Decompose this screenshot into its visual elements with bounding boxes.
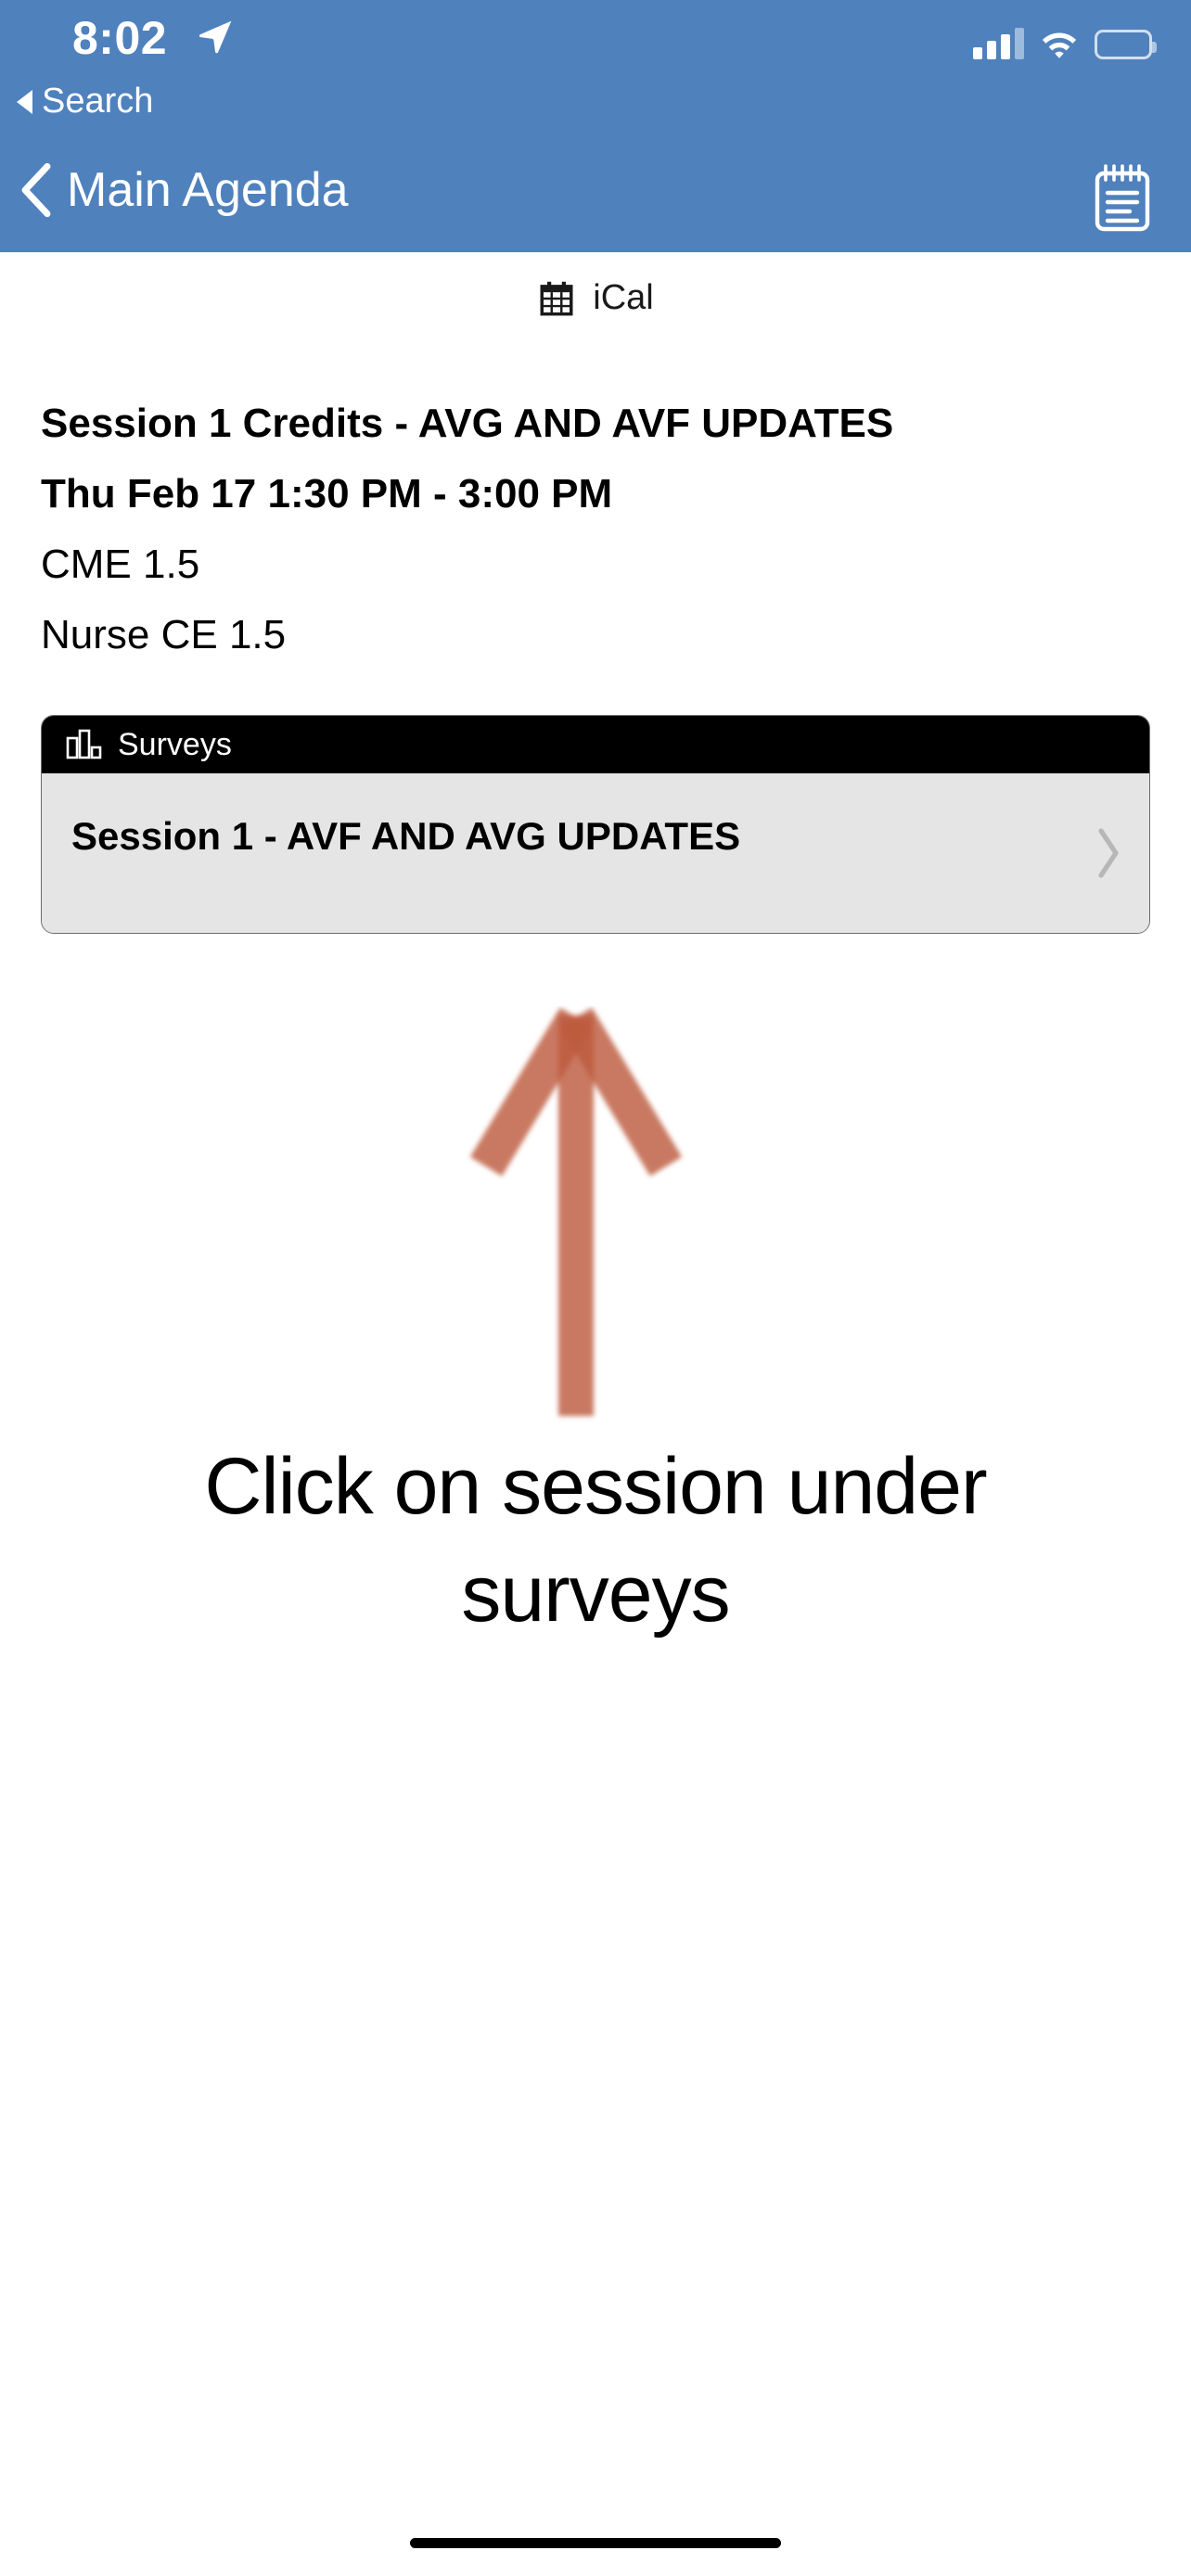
chevron-right-icon xyxy=(1095,827,1121,879)
main-content: iCal Session 1 Credits - AVG AND AVF UPD… xyxy=(0,252,1191,934)
notepad-icon[interactable] xyxy=(1089,161,1156,236)
surveys-card: Surveys Session 1 - AVF AND AVG UPDATES xyxy=(41,715,1150,934)
session-title: Session 1 Credits - AVG AND AVF UPDATES xyxy=(41,389,1191,459)
status-bar-time: 8:02 xyxy=(72,11,167,65)
calendar-icon xyxy=(537,279,576,318)
home-indicator[interactable] xyxy=(410,2538,781,2548)
location-arrow-icon xyxy=(195,17,236,57)
navigation-bar: Main Agenda xyxy=(0,139,1191,252)
nav-back-button[interactable]: Main Agenda xyxy=(20,163,349,217)
survey-row-title: Session 1 - AVF AND AVG UPDATES xyxy=(71,797,1095,909)
back-to-search-label: Search xyxy=(42,82,153,121)
surveys-card-header: Surveys xyxy=(42,716,1149,773)
up-arrow-annotation xyxy=(461,1006,730,1423)
annotation-caption-line-1: Click on session under xyxy=(0,1433,1191,1540)
wifi-icon xyxy=(1039,28,1080,59)
nav-title: Main Agenda xyxy=(67,163,349,217)
survey-row[interactable]: Session 1 - AVF AND AVG UPDATES xyxy=(42,773,1149,933)
ical-label: iCal xyxy=(593,278,653,318)
session-datetime: Thu Feb 17 1:30 PM - 3:00 PM xyxy=(41,459,1191,529)
session-cme-credits: CME 1.5 xyxy=(41,529,1191,600)
battery-icon xyxy=(1095,30,1152,59)
session-nurse-ce-credits: Nurse CE 1.5 xyxy=(41,600,1191,670)
bar-chart-icon xyxy=(66,729,103,760)
phone-screen: 8:02 Search Main xyxy=(0,0,1191,2576)
annotation-caption: Click on session under surveys xyxy=(0,1433,1191,1648)
ical-button[interactable]: iCal xyxy=(0,278,1191,318)
chevron-left-icon xyxy=(20,163,52,217)
cellular-signal-icon xyxy=(973,28,1024,59)
status-bar-indicators xyxy=(973,28,1152,59)
annotation-caption-line-2: surveys xyxy=(0,1540,1191,1648)
surveys-card-header-label: Surveys xyxy=(118,727,232,763)
back-to-search-button[interactable]: Search xyxy=(17,82,153,121)
session-details: Session 1 Credits - AVG AND AVF UPDATES … xyxy=(41,389,1191,670)
status-bar: 8:02 Search xyxy=(0,0,1191,139)
triangle-left-icon xyxy=(17,90,32,114)
